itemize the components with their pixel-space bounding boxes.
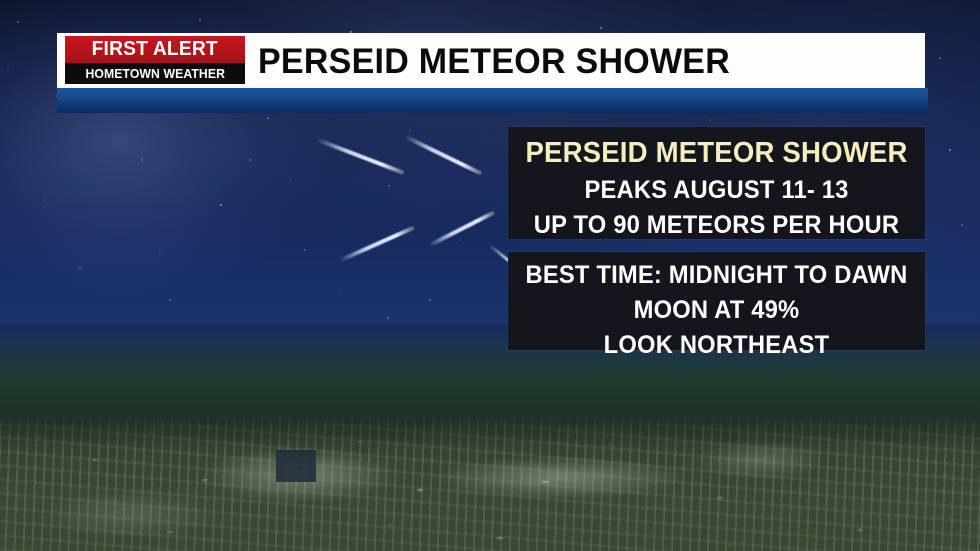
page-title: PERSEID METEOR SHOWER bbox=[258, 42, 730, 82]
panel-line: PERSEID METEOR SHOWER bbox=[518, 127, 914, 168]
logo-hometown-weather-box: HOMETOWN WEATHER bbox=[65, 63, 245, 84]
weather-graphic: FIRST ALERT HOMETOWN WEATHER PERSEID MET… bbox=[0, 0, 980, 551]
logo-line-2: HOMETOWN WEATHER bbox=[85, 66, 225, 81]
panel-line: UP TO 90 METEORS PER HOUR bbox=[518, 203, 914, 238]
logo-line-1: FIRST ALERT bbox=[92, 38, 218, 61]
info-panel-viewing-tips: BEST TIME: MIDNIGHT TO DAWN MOON AT 49% … bbox=[508, 252, 925, 350]
info-panel-shower-summary: PERSEID METEOR SHOWER PEAKS AUGUST 11- 1… bbox=[508, 127, 925, 239]
panel-line: BEST TIME: MIDNIGHT TO DAWN bbox=[518, 252, 914, 288]
panel-line: MOON AT 49% bbox=[518, 288, 914, 323]
city-vignette bbox=[0, 420, 980, 551]
header-accent-bar bbox=[57, 88, 928, 113]
first-alert-logo: FIRST ALERT HOMETOWN WEATHER bbox=[65, 36, 245, 84]
logo-first-alert-box: FIRST ALERT bbox=[65, 36, 245, 63]
panel-line: PEAKS AUGUST 11- 13 bbox=[518, 168, 914, 203]
panel-line: LOOK NORTHEAST bbox=[518, 323, 914, 358]
